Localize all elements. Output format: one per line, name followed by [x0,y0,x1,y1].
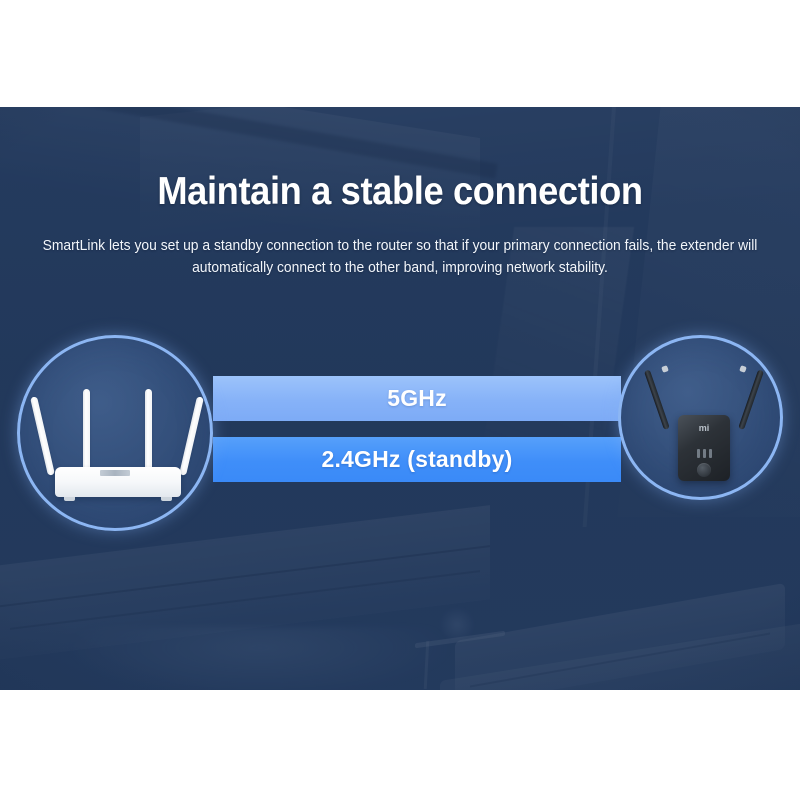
router-foot-right [161,497,172,501]
page-root: Maintain a stable connection SmartLink l… [0,0,800,800]
band-label-24ghz: 2.4GHz (standby) [321,446,512,473]
extender-antenna-tip-left [661,365,669,373]
router-led-strip [100,470,130,476]
router-antenna-2 [83,389,90,475]
router-foot-left [64,497,75,501]
router-antenna-3 [145,389,152,475]
router-antenna-4 [179,396,204,476]
page-title: Maintain a stable connection [28,170,772,214]
router-antenna-1 [30,396,55,476]
wifi-range-extender-icon: mi [659,363,749,481]
band-bar-5ghz: 5GHz [213,376,621,421]
extender-led-2 [703,449,706,458]
extender-antenna-tip-right [739,365,747,373]
extender-node-circle: mi [618,335,783,500]
band-bar-24ghz: 2.4GHz (standby) [213,437,621,482]
extender-brand-logo: mi [693,423,715,434]
feature-description: SmartLink lets you set up a standby conn… [8,235,792,279]
extender-antenna-left [644,369,670,430]
extender-led-3 [709,449,712,458]
band-label-5ghz: 5GHz [387,385,447,412]
router-node-circle [17,335,213,531]
wifi-router-icon [42,369,194,505]
extender-antenna-right [738,369,764,430]
extender-led-1 [697,449,700,458]
product-feature-banner: Maintain a stable connection SmartLink l… [0,107,800,690]
extender-pair-button [697,463,711,477]
